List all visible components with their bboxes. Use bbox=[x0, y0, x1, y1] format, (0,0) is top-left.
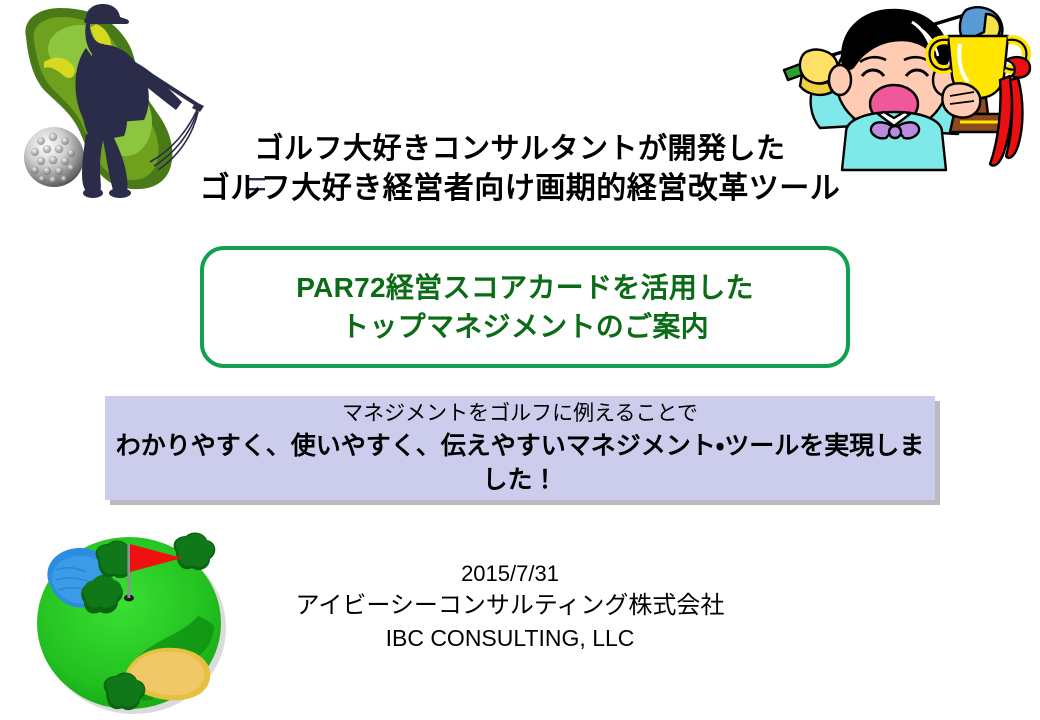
title-box-line-2: トップマネジメントのご案内 bbox=[296, 307, 754, 346]
message-box-line-2: わかりやすく、使いやすく、伝えやすいマネジメント・ツールを実現しました！ bbox=[105, 429, 935, 497]
footer-block: 2015/7/31 アイビーシーコンサルティング株式会社 IBC CONSULT… bbox=[260, 558, 760, 654]
message-box: マネジメントをゴルフに例えることで わかりやすく、使いやすく、伝えやすいマネジメ… bbox=[105, 396, 935, 500]
headline-line-2: ゴルフ大好き経営者向け画期的経営改革ツール bbox=[0, 169, 1040, 209]
footer-company-en: IBC CONSULTING, LLC bbox=[260, 622, 760, 654]
title-box-line-1: PAR72経営スコアカードを活用した bbox=[296, 268, 754, 307]
footer-company-ja: アイビーシーコンサルティング株式会社 bbox=[260, 589, 760, 622]
title-box-text: PAR72経営スコアカードを活用した トップマネジメントのご案内 bbox=[296, 268, 754, 346]
title-box: PAR72経営スコアカードを活用した トップマネジメントのご案内 bbox=[200, 246, 850, 368]
headline-line-1: ゴルフ大好きコンサルタントが開発した bbox=[0, 129, 1040, 169]
slide-canvas: ゴルフ大好きコンサルタントが開発した ゴルフ大好き経営者向け画期的経営改革ツール… bbox=[0, 0, 1040, 720]
page-headline: ゴルフ大好きコンサルタントが開発した ゴルフ大好き経営者向け画期的経営改革ツール bbox=[0, 129, 1040, 209]
message-box-line-1: マネジメントをゴルフに例えることで bbox=[342, 399, 698, 429]
footer-date: 2015/7/31 bbox=[260, 558, 760, 589]
golf-green-with-flag-illustration bbox=[22, 522, 240, 714]
